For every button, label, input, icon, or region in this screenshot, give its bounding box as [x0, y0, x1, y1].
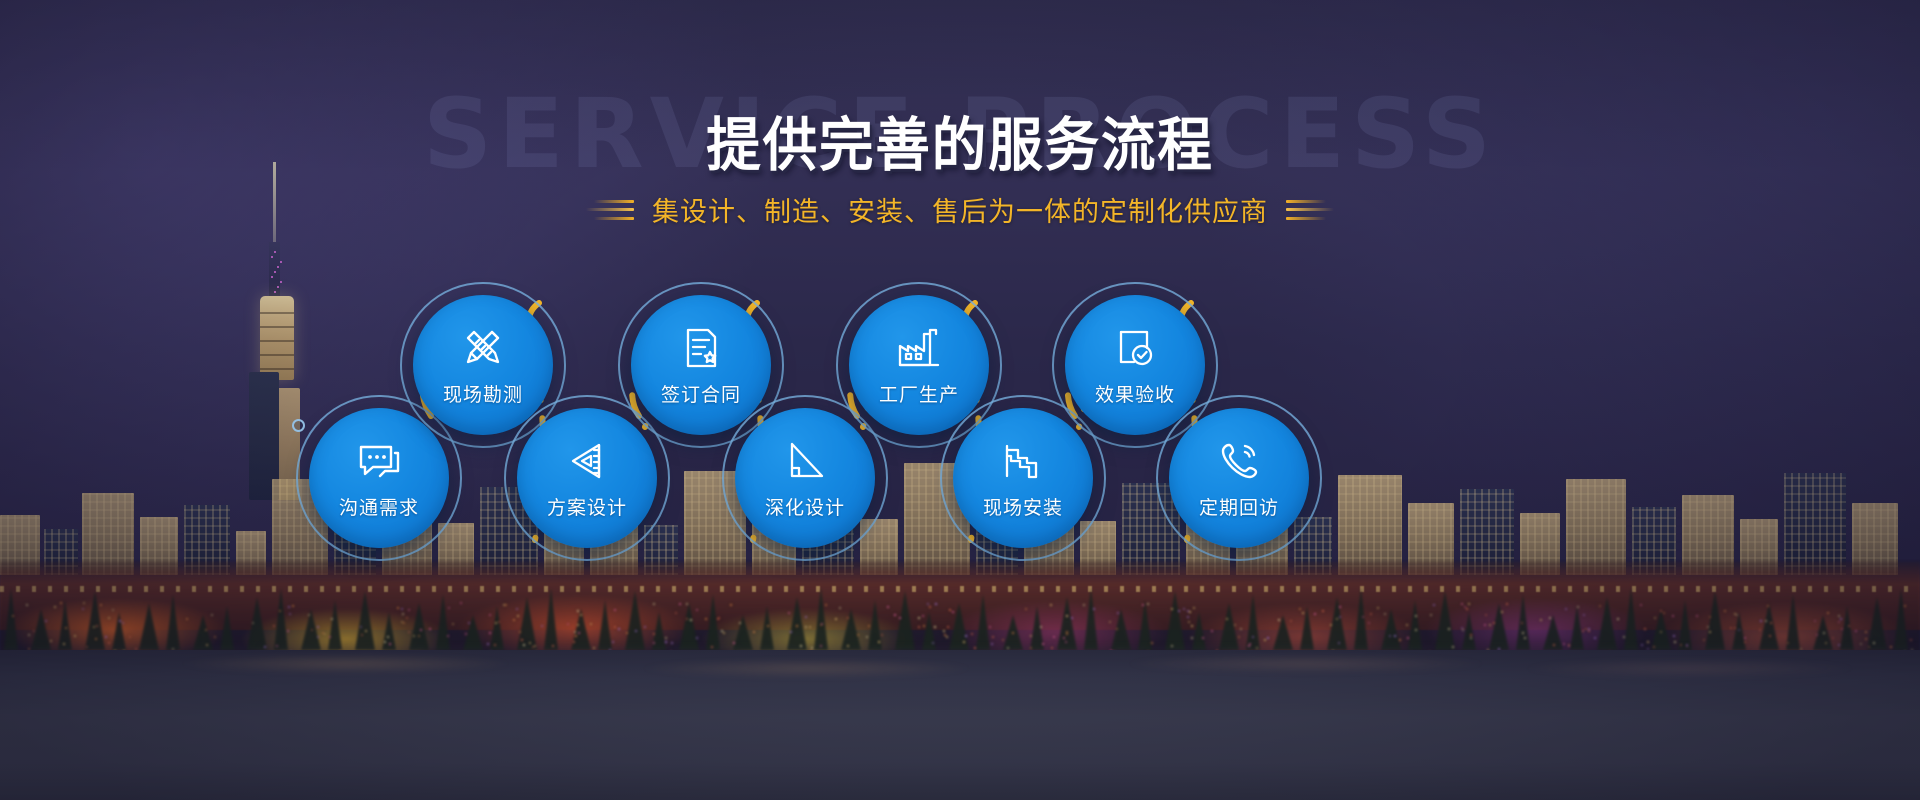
- light-sparkle: [28, 634, 30, 636]
- light-sparkle: [105, 636, 107, 638]
- light-sparkle: [465, 633, 467, 635]
- light-sparkle: [1594, 637, 1596, 639]
- light-sparkle: [1910, 639, 1912, 641]
- light-sparkle: [753, 631, 755, 633]
- light-sparkle: [1053, 636, 1055, 638]
- light-sparkle: [1673, 635, 1675, 637]
- light-sparkle: [214, 636, 216, 638]
- light-sparkle: [1744, 637, 1746, 639]
- light-sparkle: [573, 641, 575, 643]
- process-flow: 沟通需求现场勘测方案设计签订合同深化设计工厂生产现场安装效果验收定期回访: [0, 300, 1920, 630]
- light-sparkle: [521, 639, 523, 641]
- light-sparkle: [1674, 641, 1676, 643]
- light-sparkle: [287, 630, 289, 632]
- subtitle-row: 集设计、制造、安装、售后为一体的定制化供应商: [0, 190, 1920, 229]
- light-sparkle: [1744, 641, 1746, 643]
- design-ruler-icon: [563, 437, 611, 485]
- page-title: 提供完善的服务流程: [706, 98, 1214, 182]
- light-sparkle: [857, 634, 859, 636]
- light-sparkle: [95, 638, 97, 640]
- factory-icon: [895, 324, 943, 372]
- step-label: 沟通需求: [339, 493, 419, 520]
- light-sparkle: [665, 641, 667, 643]
- light-sparkle: [329, 636, 331, 638]
- light-sparkle: [612, 641, 614, 643]
- light-sparkle: [635, 630, 637, 632]
- page-subtitle: 集设计、制造、安装、售后为一体的定制化供应商: [652, 190, 1268, 229]
- phone-call-icon: [1215, 437, 1263, 485]
- drill-icon: [999, 437, 1047, 485]
- step-disc[interactable]: 定期回访: [1169, 408, 1309, 548]
- light-sparkle: [324, 633, 326, 635]
- pencil-ruler-icon: [459, 324, 507, 372]
- subtitle-right-decoration-icon: [1286, 200, 1334, 220]
- light-sparkle: [1389, 635, 1391, 637]
- light-sparkle: [1623, 636, 1625, 638]
- light-sparkle: [1202, 637, 1204, 639]
- light-sparkle: [1588, 630, 1590, 632]
- light-sparkle: [1832, 637, 1834, 639]
- tower-mast: [269, 242, 280, 304]
- checked-document-icon: [1111, 324, 1159, 372]
- step-label: 现场安装: [983, 493, 1063, 520]
- light-sparkle: [519, 631, 521, 633]
- light-sparkle: [1865, 631, 1867, 633]
- light-sparkle: [1252, 636, 1254, 638]
- light-sparkle: [1191, 637, 1193, 639]
- light-sparkle: [971, 633, 973, 635]
- light-sparkle: [790, 631, 792, 633]
- light-sparkle: [50, 640, 52, 642]
- light-sparkle: [943, 630, 945, 632]
- light-sparkle: [665, 637, 667, 639]
- step-label: 方案设计: [547, 493, 627, 520]
- light-sparkle: [1267, 637, 1269, 639]
- light-sparkle: [1264, 639, 1266, 641]
- light-sparkle: [33, 630, 35, 632]
- light-sparkle: [1399, 639, 1401, 641]
- light-sparkle: [1816, 634, 1818, 636]
- light-sparkle: [1855, 630, 1857, 632]
- page-title-wrap: 提供完善的服务流程: [0, 98, 1920, 182]
- subtitle-left-decoration-icon: [586, 200, 634, 220]
- chat-bubble-icon: [355, 437, 403, 485]
- step-label: 定期回访: [1199, 493, 1279, 520]
- light-sparkle: [723, 632, 725, 634]
- light-sparkle: [1002, 639, 1004, 641]
- set-square-icon: [781, 437, 829, 485]
- contract-document-icon: [677, 324, 725, 372]
- light-sparkle: [992, 636, 994, 638]
- lake-water: [0, 650, 1920, 800]
- light-sparkle: [946, 636, 948, 638]
- light-sparkle: [129, 636, 131, 638]
- flow-start-marker: [292, 419, 305, 432]
- banner-stage: SERVICE PROCESS 提供完善的服务流程 集设计、制造、安装、售后为一…: [0, 0, 1920, 800]
- light-sparkle: [1211, 630, 1213, 632]
- step-label: 深化设计: [765, 493, 845, 520]
- light-sparkle: [653, 633, 655, 635]
- light-sparkle: [74, 635, 76, 637]
- light-sparkle: [317, 636, 319, 638]
- process-step-9[interactable]: 定期回访: [1156, 395, 1322, 561]
- light-sparkle: [1709, 631, 1711, 633]
